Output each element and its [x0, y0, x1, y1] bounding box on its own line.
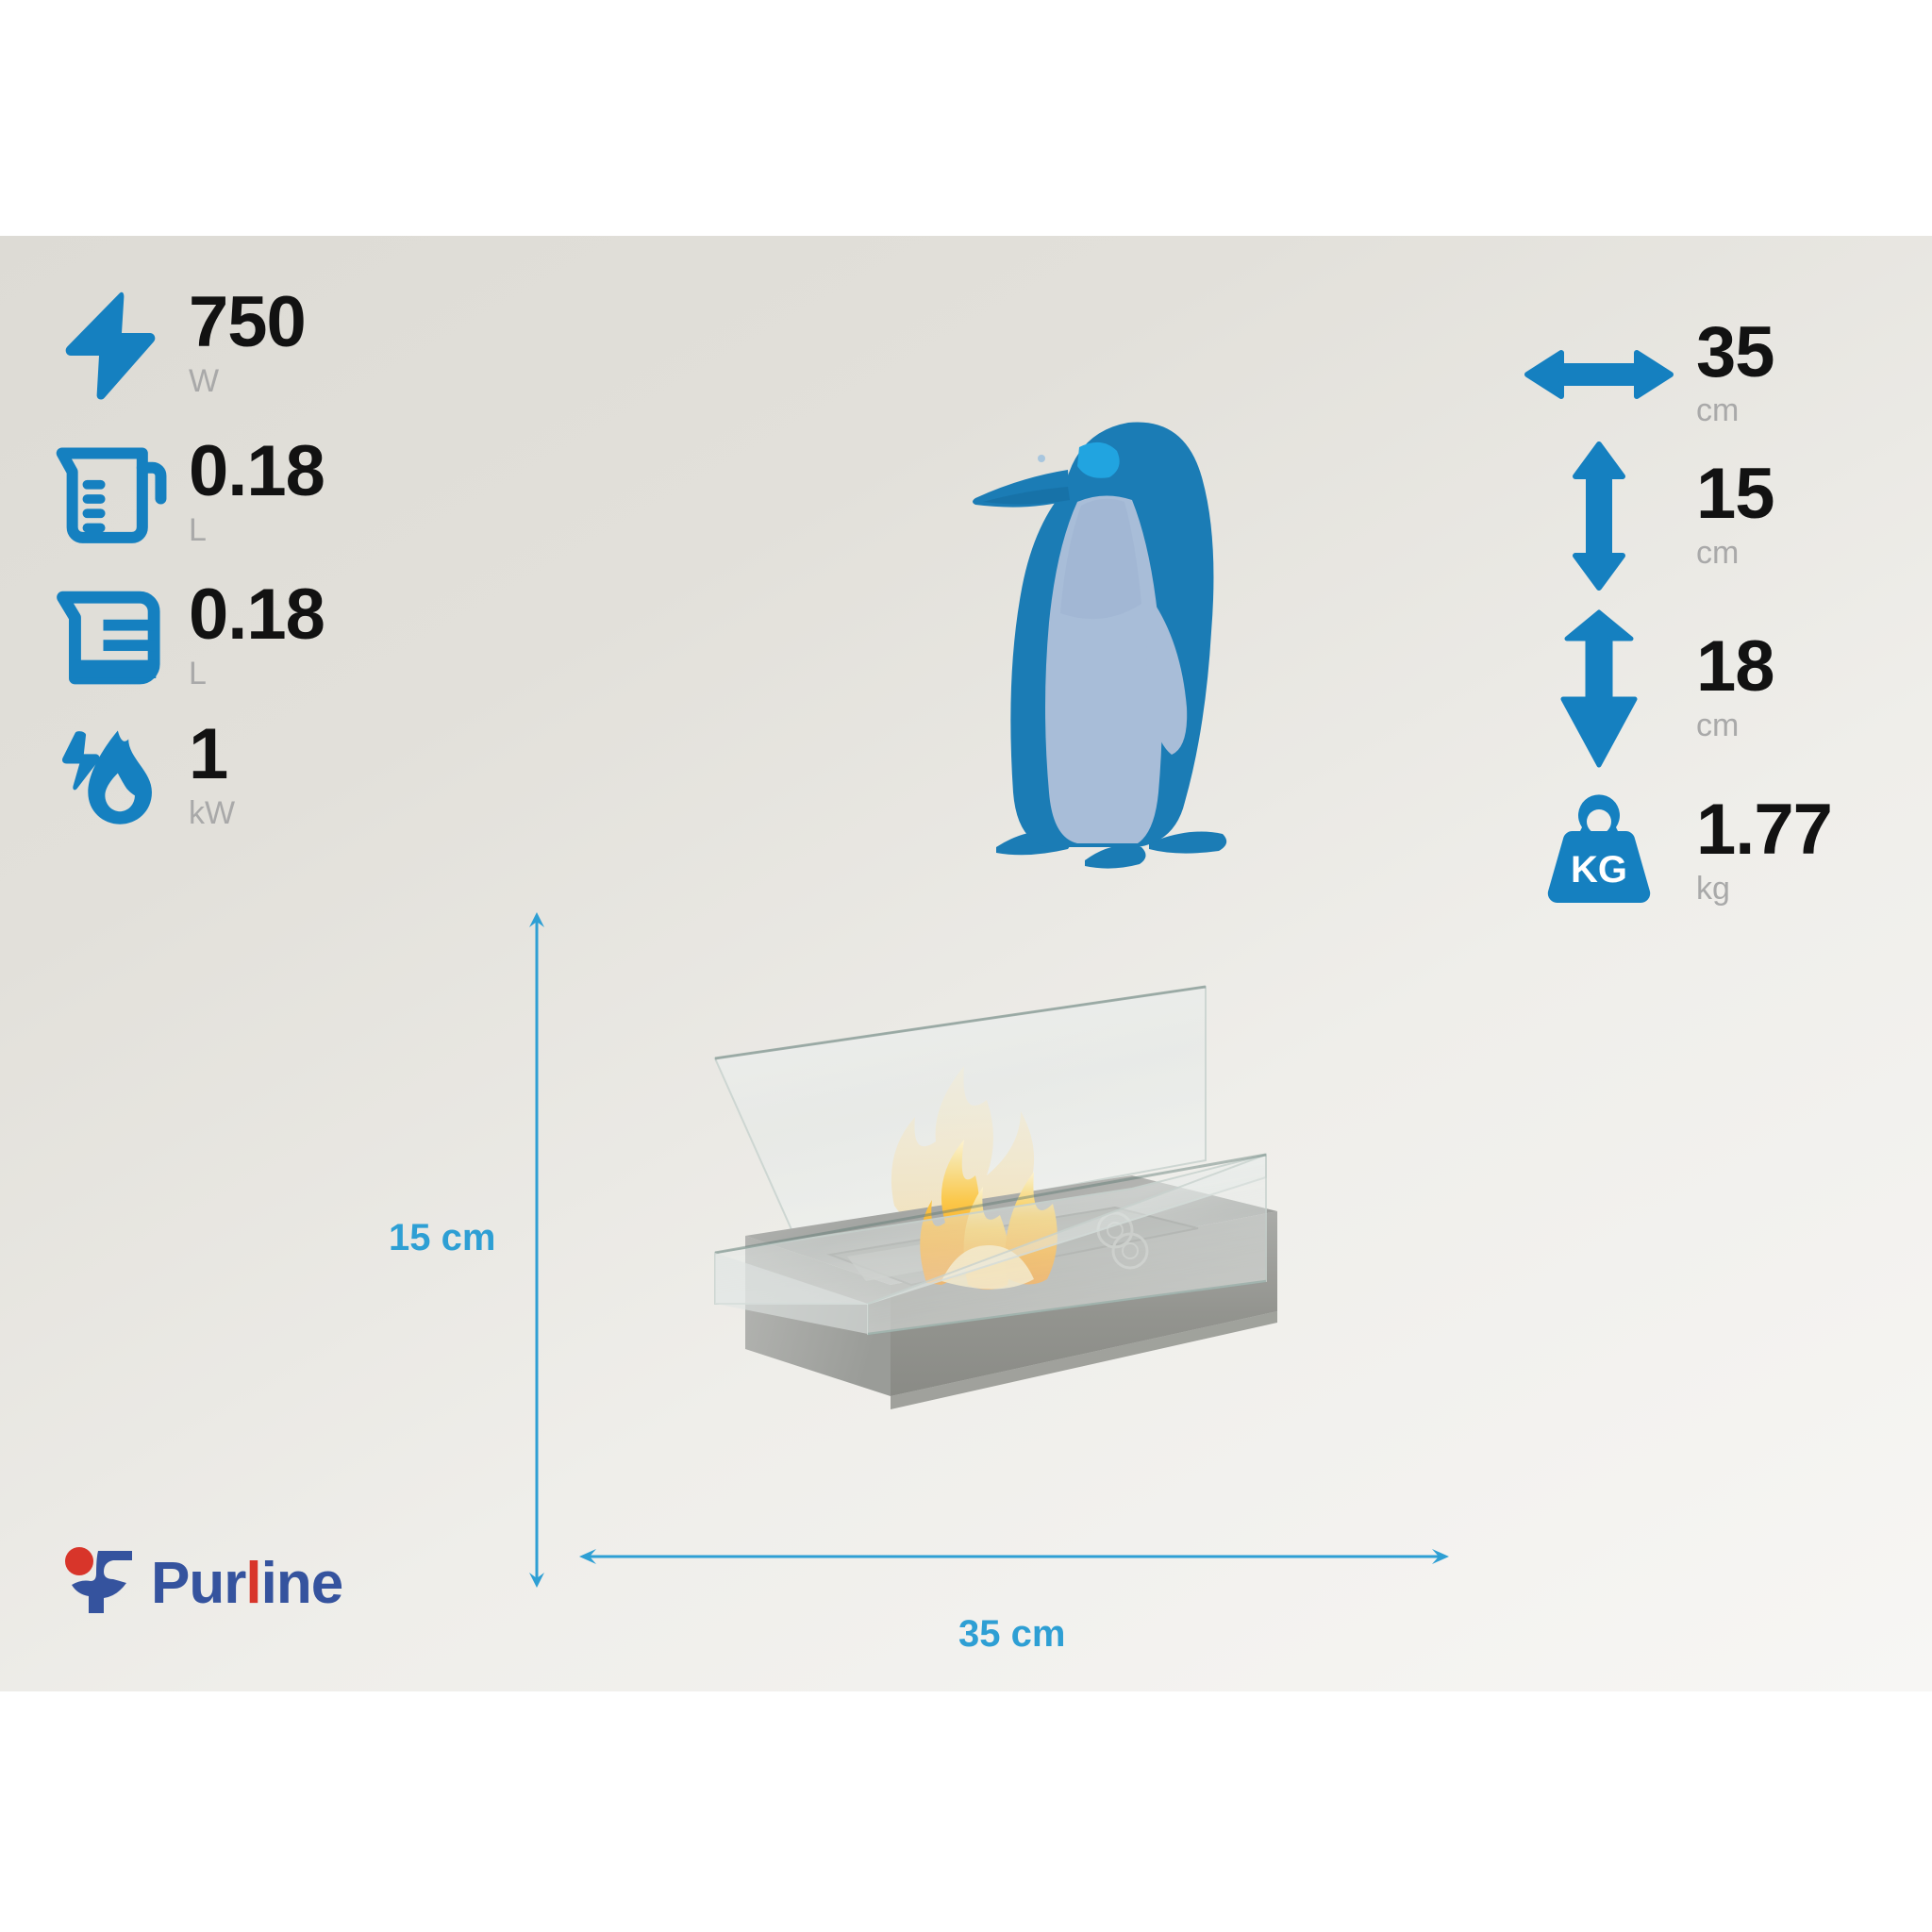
spec-value-weight: 1.77	[1696, 796, 1832, 864]
spec-text-power: 750 W	[189, 289, 306, 399]
spec-unit-consumption: L	[189, 656, 325, 692]
width-dimension-label: 35 cm	[958, 1613, 1065, 1656]
kg-weight-icon: KG	[1519, 791, 1679, 913]
spec-row-weight: KG 1.77 kg	[1519, 791, 1832, 913]
purline-figure-mark	[58, 1545, 136, 1622]
spec-text-capacity: 0.18 L	[189, 438, 325, 548]
spec-text-consumption: 0.18 L	[189, 581, 325, 691]
height-guide-arrow	[528, 910, 545, 1590]
spec-text-width: 35 cm	[1696, 319, 1774, 429]
fuel-beaker-icon	[49, 575, 172, 698]
infographic-canvas: 750 W 0.18 L	[0, 0, 1932, 1932]
spec-unit-height: cm	[1696, 535, 1774, 572]
purline-wordmark: Purline	[151, 1550, 342, 1617]
spec-value-depth: 18	[1696, 633, 1774, 701]
logo-text-part-2: l	[245, 1551, 260, 1616]
spec-row-heat-output: 1 kW	[49, 715, 235, 838]
vertical-arrow-icon	[1519, 445, 1679, 587]
svg-text:KG: KG	[1571, 849, 1627, 891]
spec-row-depth: 18 cm	[1519, 613, 1774, 764]
spec-unit-depth: cm	[1696, 708, 1774, 744]
width-guide-arrow	[577, 1547, 1451, 1566]
spec-unit-capacity: L	[189, 512, 325, 549]
logo-text-part-3: ine	[261, 1551, 343, 1616]
spec-row-capacity: 0.18 L	[49, 432, 325, 555]
spec-text-heat-output: 1 kW	[189, 721, 235, 831]
spec-value-power: 750	[189, 289, 306, 357]
spec-text-height: 15 cm	[1696, 460, 1774, 571]
spec-unit-heat-output: kW	[189, 795, 235, 832]
spec-unit-power: W	[189, 363, 306, 400]
spec-value-width: 35	[1696, 319, 1774, 387]
spec-row-height: 15 cm	[1519, 445, 1774, 587]
logo-text-part-1: Pur	[151, 1551, 245, 1616]
spec-value-heat-output: 1	[189, 721, 235, 789]
spec-unit-width: cm	[1696, 392, 1774, 429]
horizontal-arrow-icon	[1519, 327, 1679, 422]
depth-arrow-icon	[1519, 613, 1679, 764]
spec-row-consumption: 0.18 L	[49, 575, 325, 698]
spec-value-height: 15	[1696, 460, 1774, 528]
flame-bolt-icon	[49, 715, 172, 838]
penguin-scale-illustration	[962, 396, 1302, 877]
spec-value-capacity: 0.18	[189, 438, 325, 506]
spec-text-weight: 1.77 kg	[1696, 796, 1832, 907]
purline-logo: Purline	[58, 1545, 342, 1622]
height-dimension-label: 15 cm	[389, 1217, 495, 1259]
spec-row-width: 35 cm	[1519, 319, 1774, 429]
product-photo	[689, 953, 1292, 1462]
measuring-jug-icon	[49, 432, 172, 555]
spec-unit-weight: kg	[1696, 871, 1832, 908]
lightning-bolt-icon	[49, 283, 172, 406]
spec-text-depth: 18 cm	[1696, 633, 1774, 743]
spec-value-consumption: 0.18	[189, 581, 325, 649]
spec-row-power: 750 W	[49, 283, 306, 406]
